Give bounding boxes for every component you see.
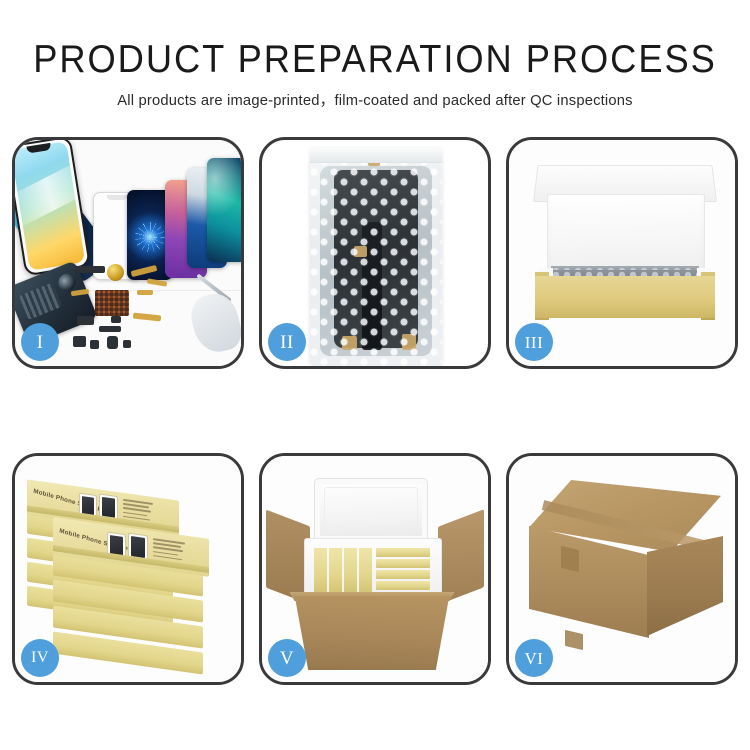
bubble-wrap-bag (310, 148, 442, 366)
page-title: PRODUCT PREPARATION PROCESS (26, 38, 724, 82)
step-badge-4: IV (21, 639, 59, 677)
gold-coil-part (107, 264, 124, 281)
process-step-panel-2[interactable]: II (259, 137, 491, 369)
step-badge-6: VI (515, 639, 553, 677)
product-preparation-infographic: PRODUCT PREPARATION PROCESS All products… (0, 0, 750, 750)
kraft-inner-box (535, 276, 715, 318)
process-step-panel-5[interactable]: V (259, 453, 491, 685)
step-badge-2: II (268, 323, 306, 361)
step-badge-1: I (21, 323, 59, 361)
carton-body (288, 596, 456, 670)
header: PRODUCT PREPARATION PROCESS All products… (0, 0, 750, 111)
process-step-panel-3[interactable]: III (506, 137, 738, 369)
page-subtitle: All products are image-printed，film-coat… (11, 91, 739, 111)
screw-tray (95, 290, 129, 316)
process-step-panel-1[interactable]: I (12, 137, 244, 369)
process-step-grid: I II (12, 137, 738, 737)
step-badge-5: V (268, 639, 306, 677)
foam-lid (314, 478, 428, 542)
process-step-panel-6[interactable]: VI (506, 453, 738, 685)
phone-teal-wave (207, 158, 241, 262)
process-step-panel-4[interactable]: Mobile Phone Spare Parts Mobile Phone Sp… (12, 453, 244, 685)
carton-tape-upper (561, 546, 579, 572)
step-badge-3: III (515, 323, 553, 361)
